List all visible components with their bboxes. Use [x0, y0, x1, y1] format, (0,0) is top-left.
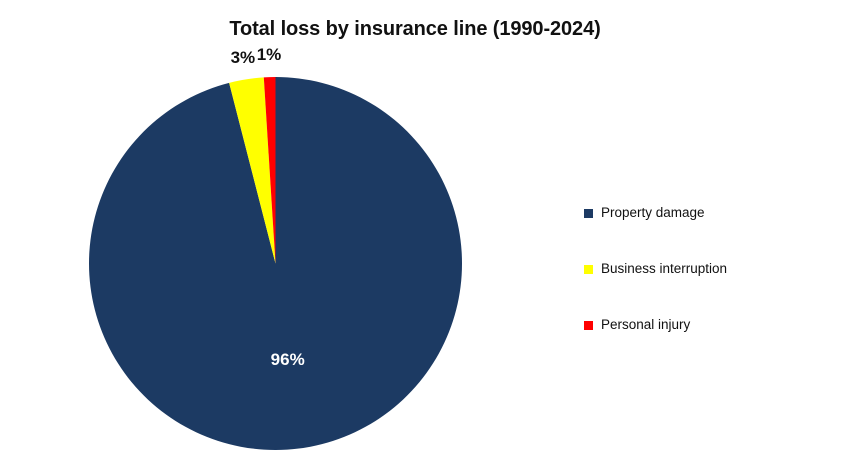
legend-item-label: Property damage	[601, 206, 705, 220]
pie-slice[interactable]	[89, 77, 462, 450]
pie-slice-label: 3%	[231, 48, 256, 68]
pie-chart: Total loss by insurance line (1990-2024)…	[0, 0, 846, 468]
pie-svg	[0, 0, 560, 468]
legend-swatch-icon	[584, 209, 593, 218]
pie-slice-label: 96%	[271, 350, 305, 370]
legend-swatch-icon	[584, 321, 593, 330]
legend-item[interactable]: Personal injury	[584, 297, 834, 353]
pie-slice-label: 1%	[257, 45, 282, 65]
legend-item[interactable]: Business interruption	[584, 241, 834, 297]
chart-legend: Property damageBusiness interruptionPers…	[584, 185, 834, 353]
legend-item[interactable]: Property damage	[584, 185, 834, 241]
legend-swatch-icon	[584, 265, 593, 274]
legend-item-label: Business interruption	[601, 262, 727, 276]
pie-slices	[89, 77, 462, 450]
legend-item-label: Personal injury	[601, 318, 690, 332]
pie-plot-area: 96%3%1%	[0, 0, 560, 468]
